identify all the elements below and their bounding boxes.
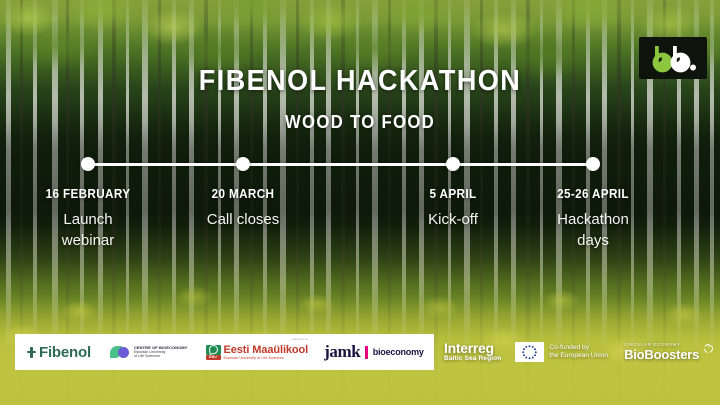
logo-interreg[interactable]: Interreg Baltic Sea Region <box>444 341 501 363</box>
fibenol-leaf-icon <box>27 347 36 358</box>
milestone-date: 5 APRIL <box>390 186 516 201</box>
emu-url: www.emu.ee <box>292 338 308 341</box>
logo-eesti-maaulikool[interactable]: www.emu.ee EMU Eesti Maaülikool Estonian… <box>206 344 309 360</box>
timeline-dot-2[interactable] <box>236 157 250 171</box>
milestone-desc-line2: days <box>523 231 663 252</box>
headline-block: FIBENOL HACKATHON WOOD TO FOOD <box>0 66 720 133</box>
emu-wordmark: Eesti Maaülikool <box>224 344 309 356</box>
logo-european-union[interactable]: Co-funded by the European Union <box>515 342 608 362</box>
milestone-desc-line1: Kick-off <box>383 210 523 231</box>
eu-flag-icon <box>515 342 544 362</box>
timeline-dot-1[interactable] <box>81 157 95 171</box>
timeline-dot-4[interactable] <box>586 157 600 171</box>
logo-fibenol[interactable]: Fibenol <box>27 344 91 361</box>
poster-canvas: FIBENOL HACKATHON WOOD TO FOOD 16 FEBRUA… <box>0 0 720 405</box>
circular-economy-icon <box>703 342 714 353</box>
timeline-axis <box>0 157 720 171</box>
fibenol-wordmark: Fibenol <box>39 344 91 361</box>
milestone-desc: Call closes <box>173 210 313 231</box>
milestone-desc: Hackathon days <box>523 210 663 251</box>
milestone-desc-line1: Launch <box>18 210 158 231</box>
ceb-line3: of Life Sciences <box>134 354 188 358</box>
eu-line2: the European Union <box>549 352 608 360</box>
timeline-line <box>88 163 593 166</box>
milestone-desc-line1: Hackathon <box>523 210 663 231</box>
bioboosters-wordmark: BioBoosters <box>624 348 699 362</box>
logo-jamk-bioeconomy[interactable]: jamk bioeconomy <box>324 342 424 362</box>
timeline-milestone-2: 20 MARCH Call closes <box>173 186 313 231</box>
funder-logo-group: Interreg Baltic Sea Region <box>444 334 714 370</box>
timeline-labels: 16 FEBRUARY Launch webinar 20 MARCH Call… <box>0 186 720 256</box>
milestone-date: 20 MARCH <box>180 186 306 201</box>
milestone-desc-line2: webinar <box>18 231 158 252</box>
page-subtitle: WOOD TO FOOD <box>25 112 695 133</box>
interreg-wordmark: Interreg <box>444 341 501 356</box>
timeline-milestone-4: 25-26 APRIL Hackathon days <box>523 186 663 251</box>
milestone-date: 16 FEBRUARY <box>25 186 151 201</box>
milestone-desc-line1: Call closes <box>173 210 313 231</box>
page-title: FIBENOL HACKATHON <box>25 66 695 96</box>
milestone-date: 25-26 APRIL <box>530 186 656 201</box>
eu-funding-text: Co-funded by the European Union <box>549 344 608 360</box>
centre-of-bioeconomy-text: CENTRE OF BIOECONOMY Estonian University… <box>134 346 188 359</box>
logo-bioboosters[interactable]: CIRCULAR ECONOMY BioBoosters <box>624 343 699 361</box>
partner-logo-band: Fibenol CENTRE OF BIOECONOMY Estonian Un… <box>15 334 434 370</box>
eu-line1: Co-funded by <box>549 344 608 352</box>
emu-subtitle: Estonian University of Life Sciences <box>224 356 309 360</box>
bioeconomy-leaf-circle-icon <box>110 344 130 360</box>
emu-crest-label: EMU <box>206 355 221 360</box>
timeline-milestone-1: 16 FEBRUARY Launch webinar <box>18 186 158 251</box>
milestone-desc: Kick-off <box>383 210 523 231</box>
jamk-wordmark: jamk <box>324 342 360 362</box>
milestone-desc: Launch webinar <box>18 210 158 251</box>
emu-crest-icon: EMU <box>206 345 221 360</box>
timeline-milestone-3: 5 APRIL Kick-off <box>383 186 523 231</box>
jamk-bioeconomy-label: bioeconomy <box>373 347 424 357</box>
emu-text: Eesti Maaülikool Estonian University of … <box>224 344 309 360</box>
interreg-subtitle: Baltic Sea Region <box>444 356 501 363</box>
timeline-dot-3[interactable] <box>446 157 460 171</box>
jamk-divider <box>365 346 367 359</box>
logo-centre-of-bioeconomy[interactable]: CENTRE OF BIOECONOMY Estonian University… <box>110 344 188 360</box>
